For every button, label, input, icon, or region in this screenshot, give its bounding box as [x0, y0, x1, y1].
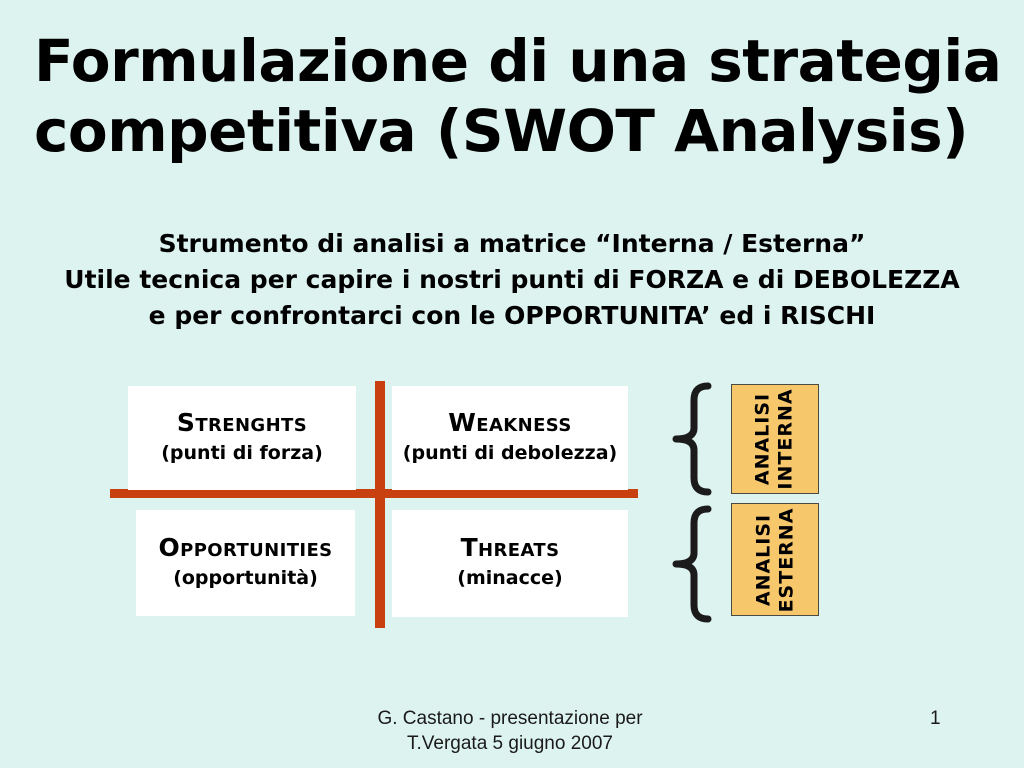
slide-subtitle-line-1: Strumento di analisi a matrice “Interna … [0, 226, 1024, 262]
swot-quadrant-weakness: WEAKNESS (punti di debolezza) [392, 386, 628, 490]
swot-quadrant-weakness-title: WEAKNESS [448, 411, 571, 438]
slide-title-line-2: competitiva (SWOT Analysis) [34, 96, 990, 166]
swot-quadrant-weakness-title-rest: EAKNESS [476, 415, 571, 436]
swot-quadrant-weakness-title-initial: W [448, 408, 476, 437]
slide-footer-line-1: G. Castano - presentazione per [300, 706, 720, 731]
swot-quadrant-weakness-subtitle: (punti di debolezza) [403, 440, 617, 466]
matrix-horizontal-divider [110, 489, 638, 498]
swot-quadrant-strengths-title-rest: TRENGHTS [195, 415, 307, 436]
swot-quadrant-strengths-title: STRENGHTS [177, 411, 307, 438]
analysis-label-esterna-text: ANALISI ESTERNA [752, 507, 798, 612]
analysis-label-interna-line-2: INTERNA [775, 388, 798, 489]
swot-quadrant-threats-title-initial: T [461, 533, 478, 562]
matrix-vertical-divider [375, 381, 385, 628]
curly-brace-icon-interna [668, 381, 714, 497]
slide-footer: G. Castano - presentazione per T.Vergata… [300, 706, 720, 756]
swot-quadrant-opportunities-title: OPPORTUNITIES [158, 536, 332, 563]
analysis-label-interna-text: ANALISI INTERNA [752, 388, 798, 489]
swot-quadrant-opportunities: OPPORTUNITIES (opportunità) [136, 510, 355, 616]
slide-subtitle-line-3: e per confrontarci con le OPPORTUNITA’ e… [0, 298, 1024, 334]
swot-quadrant-opportunities-title-initial: O [158, 533, 180, 562]
analysis-label-interna: ANALISI INTERNA [731, 384, 819, 494]
slide-page-number: 1 [930, 706, 970, 731]
swot-quadrant-strengths: STRENGHTS (punti di forza) [128, 386, 356, 490]
slide-title-line-1: Formulazione di una strategia [34, 26, 990, 96]
swot-quadrant-threats-subtitle: (minacce) [457, 565, 562, 591]
swot-quadrant-threats-title-rest: HREATS [478, 540, 559, 561]
analysis-label-esterna-line-2: ESTERNA [775, 507, 798, 612]
slide-canvas: Formulazione di una strategia competitiv… [0, 0, 1024, 768]
swot-quadrant-opportunities-subtitle: (opportunità) [173, 565, 318, 591]
analysis-label-interna-line-1: ANALISI [752, 388, 775, 489]
swot-quadrant-strengths-subtitle: (punti di forza) [161, 440, 323, 466]
curly-brace-icon-esterna [668, 504, 714, 624]
analysis-label-esterna: ANALISI ESTERNA [731, 503, 819, 616]
slide-subtitle: Strumento di analisi a matrice “Interna … [0, 226, 1024, 334]
swot-quadrant-strengths-title-initial: S [177, 408, 195, 437]
swot-quadrant-threats-title: THREATS [461, 536, 560, 563]
slide-footer-line-2: T.Vergata 5 giugno 2007 [300, 731, 720, 756]
analysis-label-esterna-line-1: ANALISI [752, 507, 775, 612]
swot-quadrant-threats: THREATS (minacce) [392, 510, 628, 617]
slide-title: Formulazione di una strategia competitiv… [34, 26, 990, 166]
swot-quadrant-opportunities-title-rest: PPORTUNITIES [180, 540, 332, 561]
slide-subtitle-line-2: Utile tecnica per capire i nostri punti … [0, 262, 1024, 298]
